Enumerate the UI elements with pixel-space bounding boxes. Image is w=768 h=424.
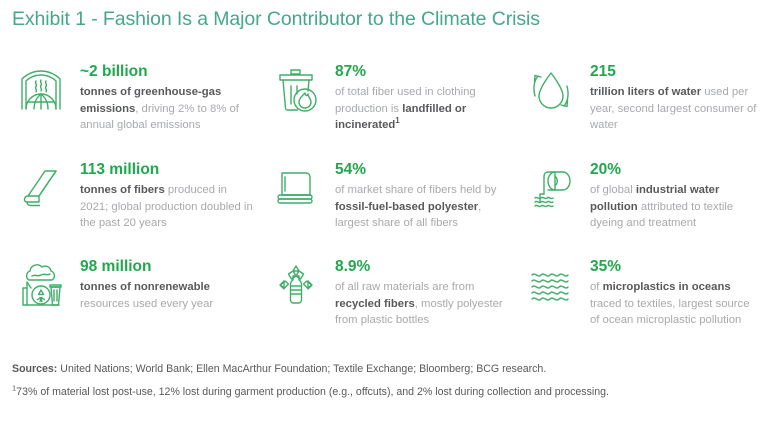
footnote-line: 173% of material lost post-use, 12% lost… (12, 385, 760, 400)
footnote-reference: 1 (395, 117, 399, 126)
stat-figure: 20% (590, 161, 760, 179)
ocean-waves-icon (522, 257, 580, 315)
stat-card-water-pollution: 20% of global industrial water pollution… (522, 160, 760, 257)
stat-figure: 54% (335, 161, 510, 179)
stat-card-microplastics: 35% of microplastics in oceans traced to… (522, 257, 760, 357)
folded-fabric-stack-icon (267, 160, 325, 218)
stat-card-recycled-materials: 8.9% of all raw materials are from recyc… (267, 257, 522, 357)
stat-figure: 87% (335, 63, 510, 81)
stat-description: of all raw materials are from recycled f… (335, 279, 510, 329)
stat-body: 35% of microplastics in oceans traced to… (590, 257, 760, 329)
stat-card-fiber-waste: 87% of total fiber used in clothing prod… (267, 62, 522, 160)
stat-body: ~2 billion tonnes of greenhouse-gas emis… (80, 62, 255, 134)
stat-card-fiber-production: 113 million tonnes of fibers produced in… (12, 160, 267, 257)
stat-card-polyester-share: 54% of market share of fibers held by fo… (267, 160, 522, 257)
plain-text: of global (590, 184, 636, 196)
plain-text: of market share of fibers held by (335, 184, 496, 196)
factory-smoke-recycle-icon (12, 257, 70, 315)
trash-bin-fire-icon (267, 62, 325, 120)
emphasized-text: microplastics in oceans (603, 281, 731, 293)
emphasized-text: fossil-fuel-based polyester (335, 201, 478, 213)
recycled-bottle-icon (267, 257, 325, 315)
stat-card-water-use: 215 trillion liters of water used per ye… (522, 62, 760, 160)
fabric-roll-icon (12, 160, 70, 218)
stats-grid: ~2 billion tonnes of greenhouse-gas emis… (12, 62, 760, 357)
stat-figure: 98 million (80, 258, 255, 276)
stat-card-greenhouse-gas: ~2 billion tonnes of greenhouse-gas emis… (12, 62, 267, 160)
stat-description: of microplastics in oceans traced to tex… (590, 279, 760, 329)
plain-text: of (590, 281, 603, 293)
plain-text: resources used every year (80, 298, 213, 310)
emphasized-text: tonnes of fibers (80, 184, 165, 196)
stat-description: trillion liters of water used per year, … (590, 84, 760, 134)
plain-text: traced to textiles, largest source of oc… (590, 298, 750, 327)
stat-description: of total fiber used in clothing producti… (335, 84, 510, 134)
greenhouse-globe-icon (12, 62, 70, 120)
page-title: Exhibit 1 - Fashion Is a Major Contribut… (12, 8, 540, 31)
plain-text: of all raw materials are from (335, 281, 474, 293)
stat-body: 215 trillion liters of water used per ye… (590, 62, 760, 134)
sources-line: Sources: United Nations; World Bank; Ell… (12, 362, 760, 377)
sources-text: United Nations; World Bank; Ellen MacArt… (57, 363, 546, 375)
stat-description: tonnes of fibers produced in 2021; globa… (80, 182, 255, 232)
stat-figure: 215 (590, 63, 760, 81)
wastewater-pipe-icon (522, 160, 580, 218)
footer: Sources: United Nations; World Bank; Ell… (12, 362, 760, 409)
stat-description: of market share of fibers held by fossil… (335, 182, 510, 232)
exhibit-page: Exhibit 1 - Fashion Is a Major Contribut… (0, 0, 768, 424)
emphasized-text: tonnes of nonrenewable (80, 281, 210, 293)
stat-body: 87% of total fiber used in clothing prod… (335, 62, 510, 134)
stat-card-nonrenewable-resources: 98 million tonnes of nonrenewable resour… (12, 257, 267, 357)
stat-description: tonnes of nonrenewable resources used ev… (80, 279, 255, 312)
stat-body: 98 million tonnes of nonrenewable resour… (80, 257, 255, 312)
stat-figure: 8.9% (335, 258, 510, 276)
stat-description: tonnes of greenhouse-gas emissions, driv… (80, 84, 255, 134)
stat-figure: 35% (590, 258, 760, 276)
stat-body: 20% of global industrial water pollution… (590, 160, 760, 232)
emphasized-text: recycled fibers (335, 298, 415, 310)
water-droplet-recycle-icon (522, 62, 580, 120)
stat-figure: ~2 billion (80, 63, 255, 81)
stat-body: 54% of market share of fibers held by fo… (335, 160, 510, 232)
stat-figure: 113 million (80, 161, 255, 179)
emphasized-text: trillion liters of water (590, 86, 701, 98)
stat-body: 8.9% of all raw materials are from recyc… (335, 257, 510, 329)
sources-label: Sources: (12, 363, 57, 375)
footnote-text: 73% of material lost post-use, 12% lost … (16, 386, 609, 398)
stat-body: 113 million tonnes of fibers produced in… (80, 160, 255, 232)
stat-description: of global industrial water pollution att… (590, 182, 760, 232)
